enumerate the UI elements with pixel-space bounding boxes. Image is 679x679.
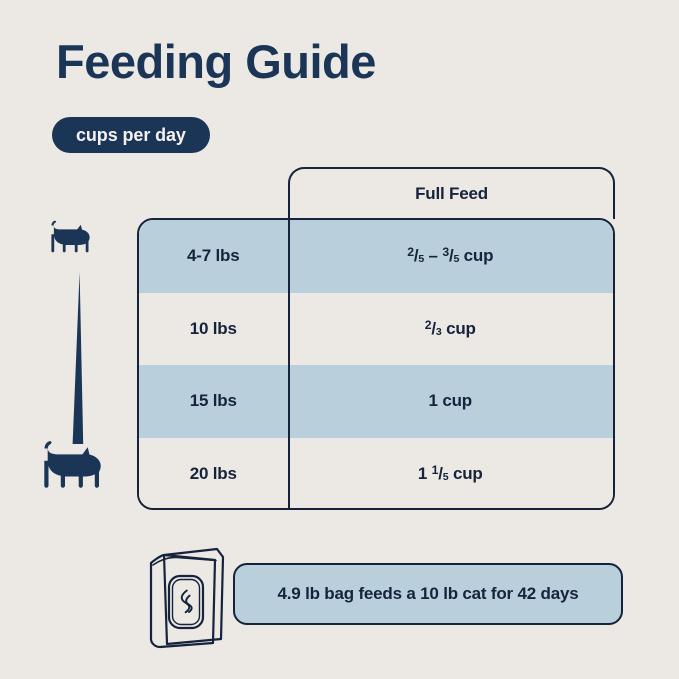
column-header-label: Full Feed <box>415 184 488 204</box>
feeding-guide-page: Feeding Guide cups per day <box>0 0 679 679</box>
table-row: 15 lbs 1 cup <box>139 365 613 438</box>
table-column-divider <box>288 220 291 510</box>
cell-weight: 15 lbs <box>139 365 288 438</box>
feed-whole-number: 1 <box>418 464 432 483</box>
cell-feed-amount: 2/5 – 3/5 cup <box>288 220 614 293</box>
fraction-numerator: 2 <box>425 318 432 332</box>
cell-weight: 4-7 lbs <box>139 220 288 293</box>
size-scale-wedge-icon <box>69 272 91 449</box>
fraction: 2/3 cup <box>425 319 476 339</box>
feed-unit: cup <box>459 246 493 265</box>
cell-feed-amount: 1 cup <box>288 365 614 438</box>
callout-bar: 4.9 lb bag feeds a 10 lb cat for 42 days <box>233 563 623 625</box>
fraction-numerator: 2 <box>407 245 414 259</box>
table-column-header-full-feed: Full Feed <box>288 167 615 219</box>
table-row: 20 lbs 1 1/5 cup <box>139 438 613 511</box>
feed-unit: cup <box>438 391 472 410</box>
feed-whole-number: 1 <box>429 391 438 410</box>
food-bag-icon <box>137 543 245 656</box>
status-badge: cups per day <box>52 117 210 153</box>
page-title: Feeding Guide <box>56 38 376 85</box>
cell-feed-amount: 2/3 cup <box>288 293 614 366</box>
fraction-numerator: 3 <box>442 245 449 259</box>
table-body: 4-7 lbs 2/5 – 3/5 cup 10 lbs 2/3 cup 15 … <box>137 218 615 510</box>
flame-swirl-logo-icon <box>182 591 192 613</box>
callout-text: 4.9 lb bag feeds a 10 lb cat for 42 days <box>278 584 579 604</box>
range-dash: – <box>424 246 442 265</box>
whole-amount: 1 cup <box>429 391 472 411</box>
cell-weight: 10 lbs <box>139 293 288 366</box>
cell-weight: 20 lbs <box>139 438 288 511</box>
cat-size-scale <box>22 210 142 510</box>
badge-label: cups per day <box>76 125 186 146</box>
fraction-numerator: 1 <box>432 463 439 477</box>
feed-unit: cup <box>442 319 476 338</box>
cat-silhouette-large-icon <box>34 440 116 497</box>
feeding-table: Full Feed 4-7 lbs 2/5 – 3/5 cup 10 lbs 2… <box>137 167 615 512</box>
cat-silhouette-small-icon <box>44 220 100 261</box>
table-row: 4-7 lbs 2/5 – 3/5 cup <box>139 220 613 293</box>
table-row: 10 lbs 2/3 cup <box>139 293 613 366</box>
fraction-range: 2/5 – 3/5 cup <box>407 246 493 266</box>
cell-feed-amount: 1 1/5 cup <box>288 438 614 511</box>
bag-duration-callout: 4.9 lb bag feeds a 10 lb cat for 42 days <box>137 543 627 653</box>
feed-unit: cup <box>448 464 482 483</box>
mixed-fraction: 1 1/5 cup <box>418 464 483 484</box>
